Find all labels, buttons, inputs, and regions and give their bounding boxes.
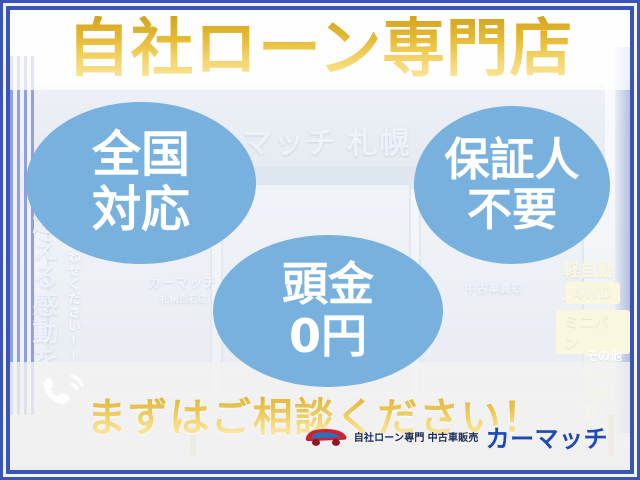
feature-bubble-nationwide-line1: 全国: [92, 128, 190, 183]
feature-bubble-no-guarantor: 保証人 不要: [414, 106, 610, 264]
page-title: 自社ローン専門店: [10, 16, 630, 83]
brand-name: カーマッチ: [486, 419, 608, 454]
feature-bubble-zero-down: 頭金 0円: [213, 235, 443, 387]
feature-bubble-nationwide-line2: 対応: [92, 183, 190, 238]
brand-tagline: 自社ローン専門 中古車販売: [354, 429, 479, 444]
brand-logo: 自社ローン専門 中古車販売 カーマッチ: [305, 419, 608, 454]
feature-bubble-nationwide: 全国 対応: [26, 102, 256, 264]
banner-content-area: マッチ 札幌 カーマッチ 札幌白石店 中古車買取 超える感動を わせください!!…: [10, 10, 630, 470]
feature-bubble-no-guarantor-line2: 不要: [467, 185, 557, 235]
feature-bubble-zero-down-line2: 0円: [289, 311, 367, 363]
advertisement-banner: マッチ 札幌 カーマッチ 札幌白石店 中古車買取 超える感動を わせください!!…: [0, 0, 640, 480]
feature-bubble-zero-down-line1: 頭金: [282, 259, 374, 311]
feature-bubble-no-guarantor-line1: 保証人: [444, 135, 579, 185]
red-car-icon: [305, 426, 347, 448]
